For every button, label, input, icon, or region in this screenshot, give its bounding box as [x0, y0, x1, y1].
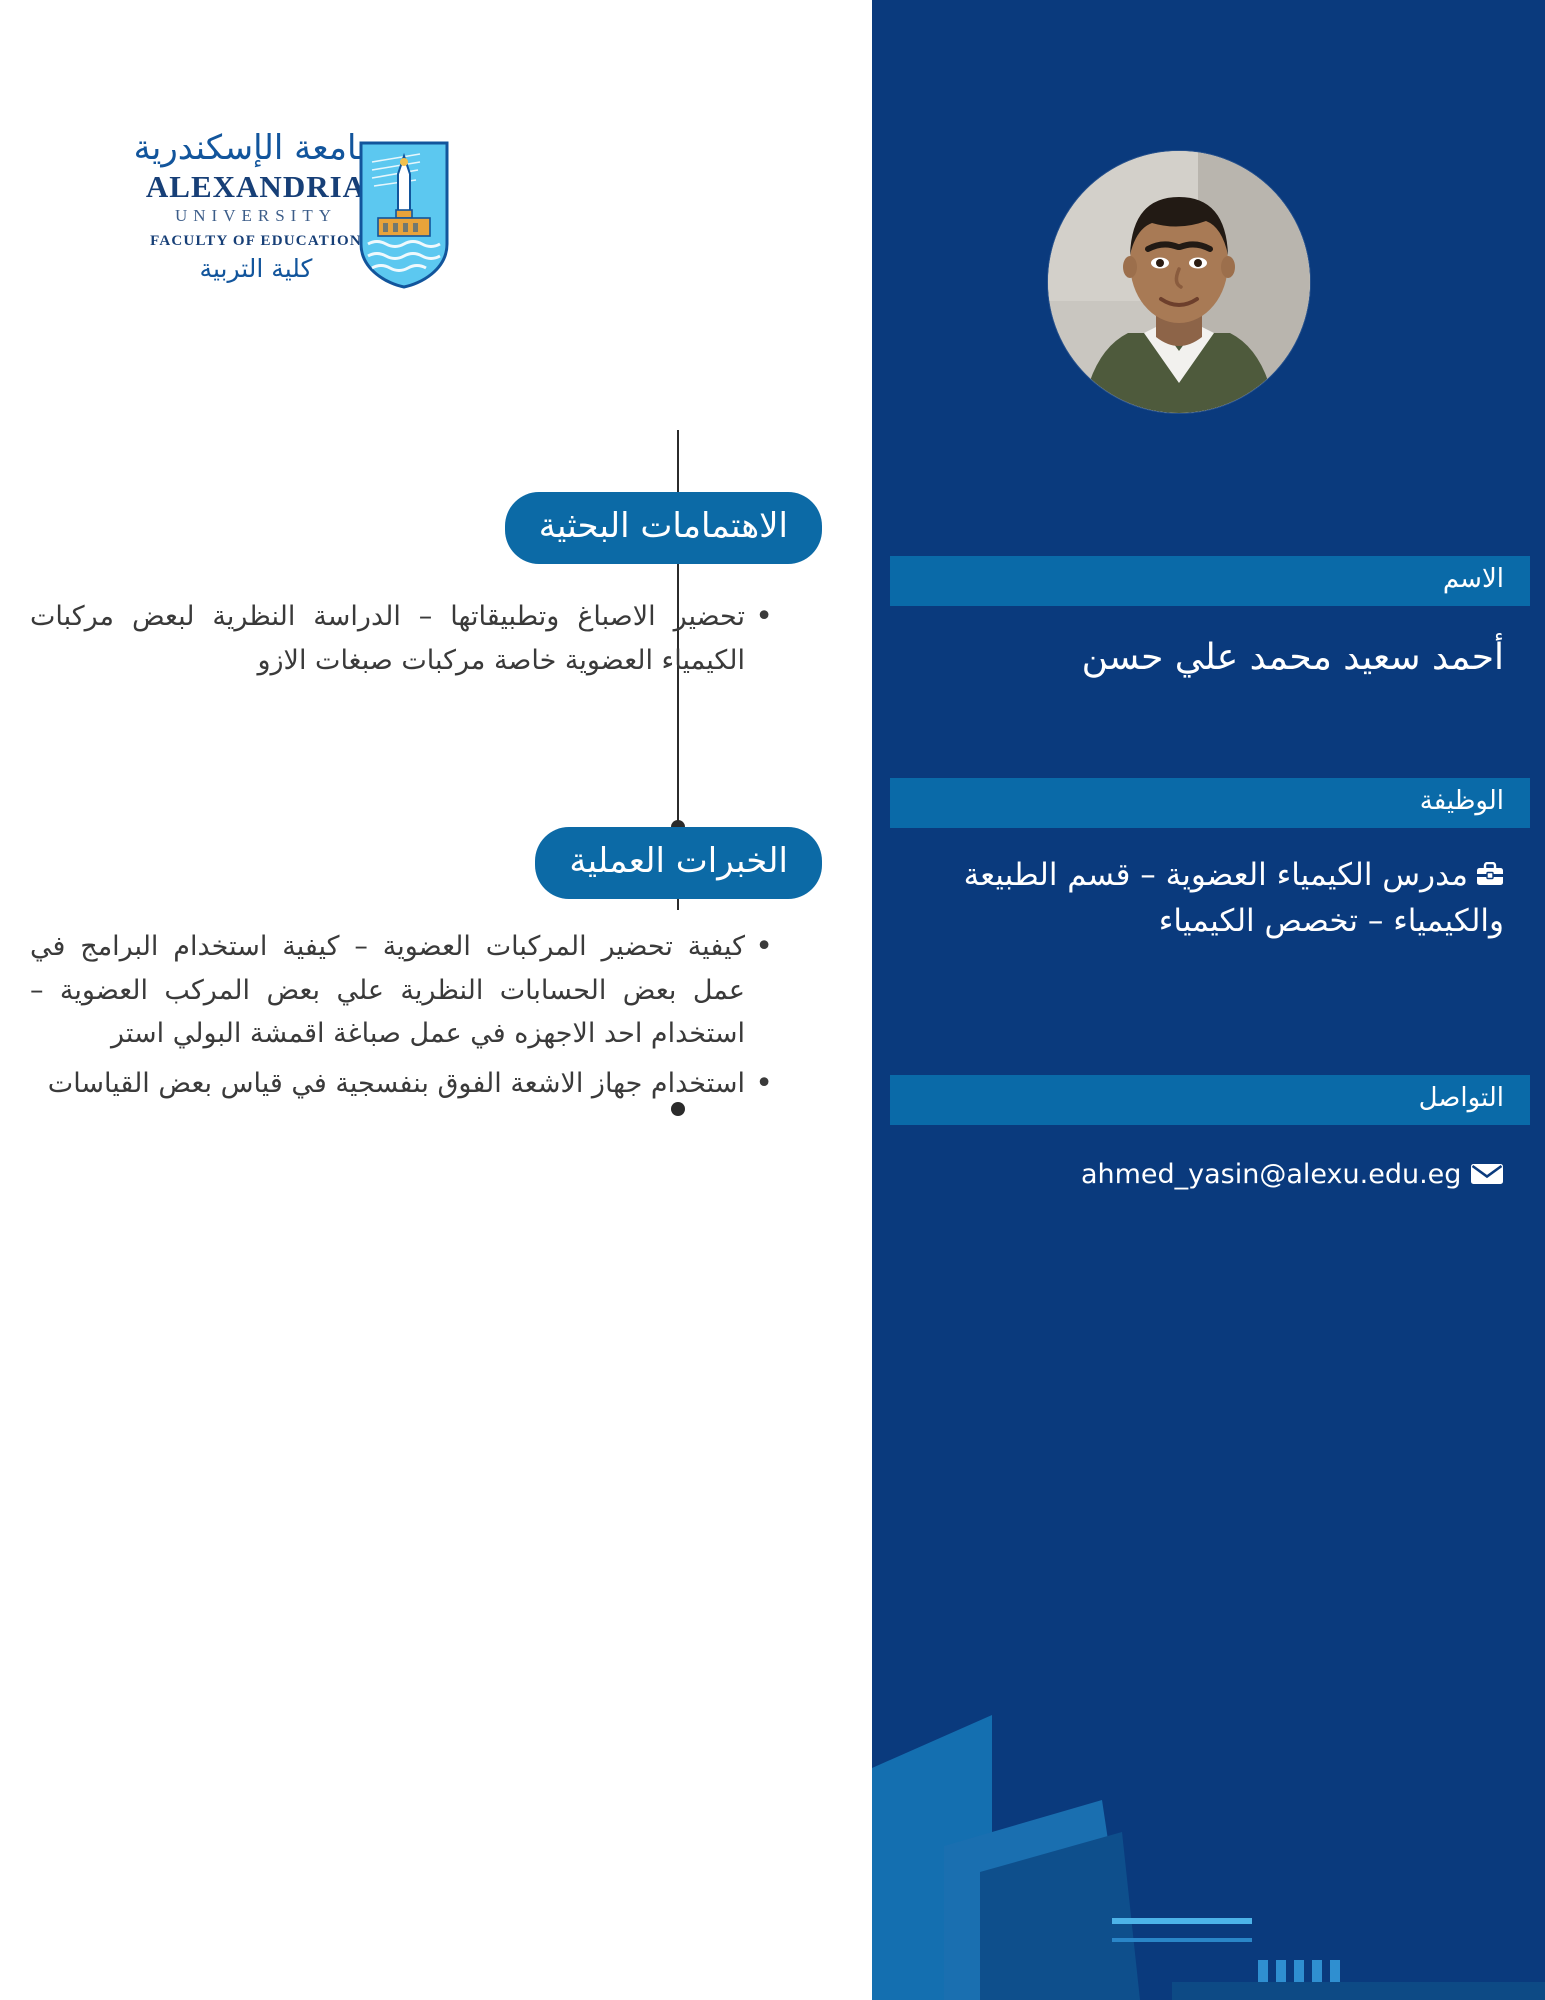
- label-contact: التواصل: [890, 1075, 1530, 1125]
- university-logo: جامعة الإسكندرية ALEXANDRIA UNIVERSITY F…: [130, 130, 450, 310]
- profile-panel: الاسم أحمد سعيد محمد علي حسن الوظيفة مدر…: [872, 0, 1545, 2000]
- cv-page: جامعة الإسكندرية ALEXANDRIA UNIVERSITY F…: [0, 0, 1545, 2000]
- panel-decoration: [872, 1660, 1545, 2000]
- logo-arabic-university: جامعة الإسكندرية: [130, 130, 382, 167]
- label-position: الوظيفة: [890, 778, 1530, 828]
- list-item: استخدام جهاز الاشعة الفوق بنفسجية في قيا…: [30, 1062, 745, 1106]
- left-content-column: جامعة الإسكندرية ALEXANDRIA UNIVERSITY F…: [0, 0, 880, 2000]
- value-name: أحمد سعيد محمد علي حسن: [890, 606, 1530, 684]
- profile-section-contact: التواصل ahmed_yasin@alexu.edu.eg: [890, 1075, 1530, 1194]
- envelope-icon: [1470, 1162, 1504, 1186]
- profile-section-name: الاسم أحمد سعيد محمد علي حسن: [890, 556, 1530, 684]
- position-text: مدرس الكيمياء العضوية – قسم الطبيعة والك…: [964, 857, 1504, 940]
- avatar: [1048, 151, 1310, 413]
- portrait-photo: [1048, 151, 1310, 413]
- list-item: كيفية تحضير المركبات العضوية – كيفية است…: [30, 925, 745, 1056]
- logo-english-faculty: FACULTY OF EDUCATION: [130, 233, 382, 250]
- section-title-research-interests: الاهتمامات البحثية: [505, 492, 822, 564]
- list-item: تحضير الاصباغ وتطبيقاتها – الدراسة النظر…: [30, 595, 745, 682]
- lighthouse-crest-icon: [358, 140, 450, 290]
- logo-arabic-faculty: كلية التربية: [130, 254, 382, 283]
- logo-english-university-line1: ALEXANDRIA: [130, 169, 382, 205]
- geometric-shapes-decoration: [872, 1660, 1545, 2000]
- briefcase-icon: [1476, 862, 1504, 887]
- email-text[interactable]: ahmed_yasin@alexu.edu.eg: [1081, 1159, 1461, 1190]
- logo-english-university-line2: UNIVERSITY: [130, 206, 382, 226]
- section-title-practical-experience: الخبرات العملية: [535, 827, 822, 899]
- practical-experience-list: كيفية تحضير المركبات العضوية – كيفية است…: [30, 925, 785, 1112]
- label-name: الاسم: [890, 556, 1530, 606]
- value-contact: ahmed_yasin@alexu.edu.eg: [890, 1125, 1530, 1194]
- value-position: مدرس الكيمياء العضوية – قسم الطبيعة والك…: [890, 828, 1530, 945]
- research-interests-list: تحضير الاصباغ وتطبيقاتها – الدراسة النظر…: [30, 595, 785, 688]
- university-logo-text: جامعة الإسكندرية ALEXANDRIA UNIVERSITY F…: [130, 130, 382, 283]
- profile-section-position: الوظيفة مدرس الكيمياء العضوية – قسم الطب…: [890, 778, 1530, 945]
